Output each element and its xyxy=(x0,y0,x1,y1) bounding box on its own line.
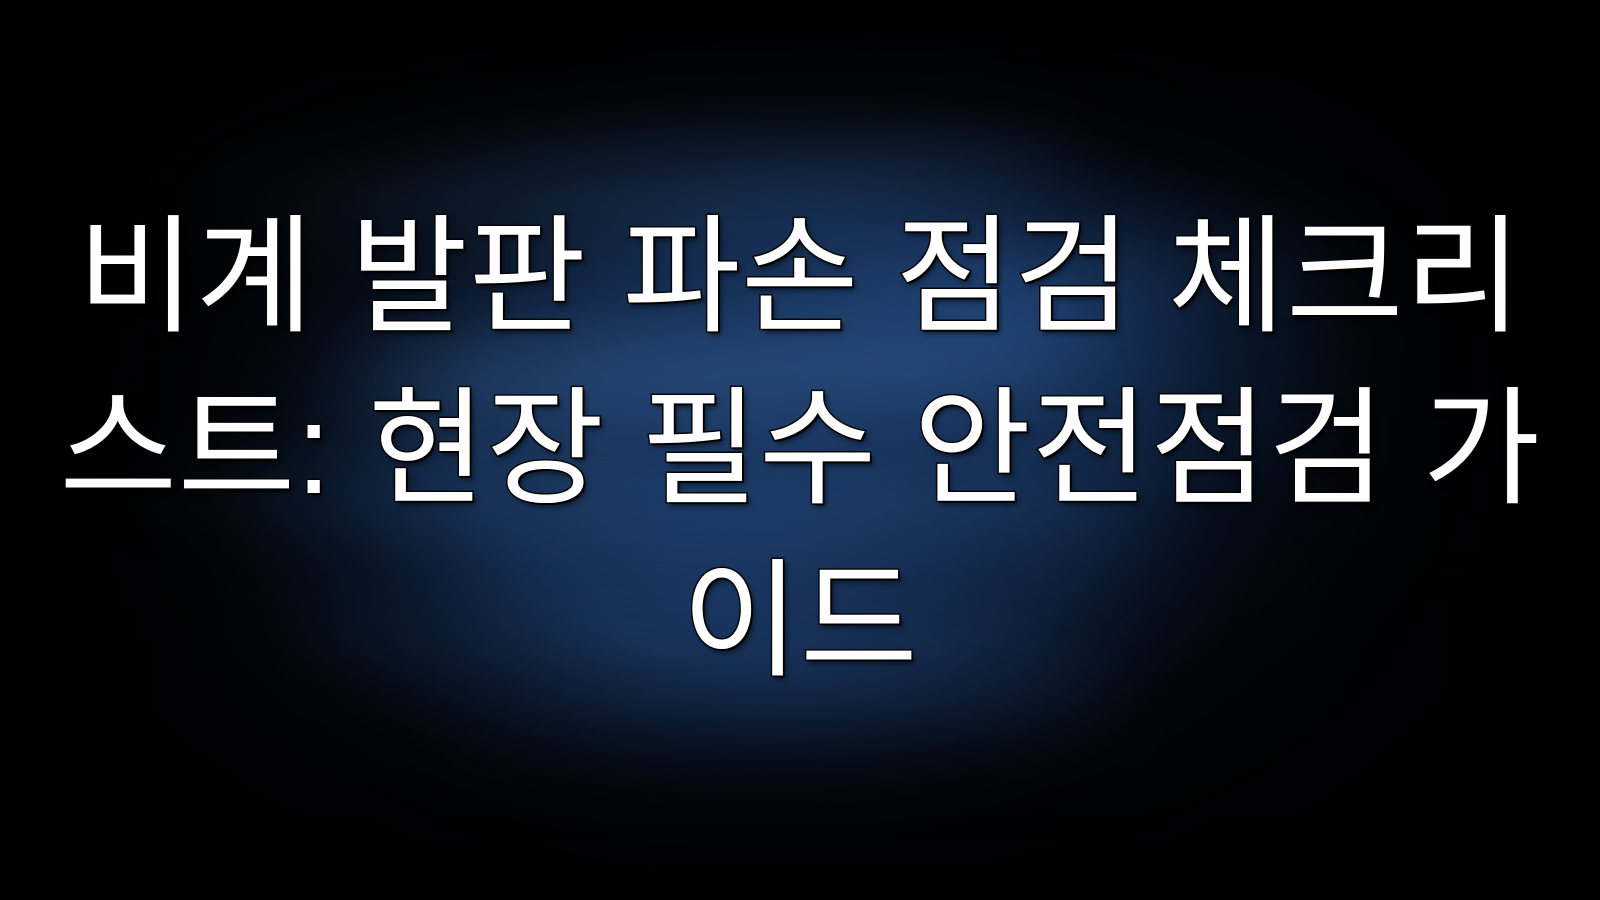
title-line-3: 이드 xyxy=(682,536,919,708)
title-line-1: 비계 발판 파손 점검 체크리 xyxy=(77,192,1522,364)
title-line-2: 스트: 현장 필수 안전점검 가 xyxy=(59,364,1540,536)
title-slide: 비계 발판 파손 점검 체크리 스트: 현장 필수 안전점검 가 이드 xyxy=(0,0,1600,900)
page-title: 비계 발판 파손 점검 체크리 스트: 현장 필수 안전점검 가 이드 xyxy=(0,0,1600,900)
